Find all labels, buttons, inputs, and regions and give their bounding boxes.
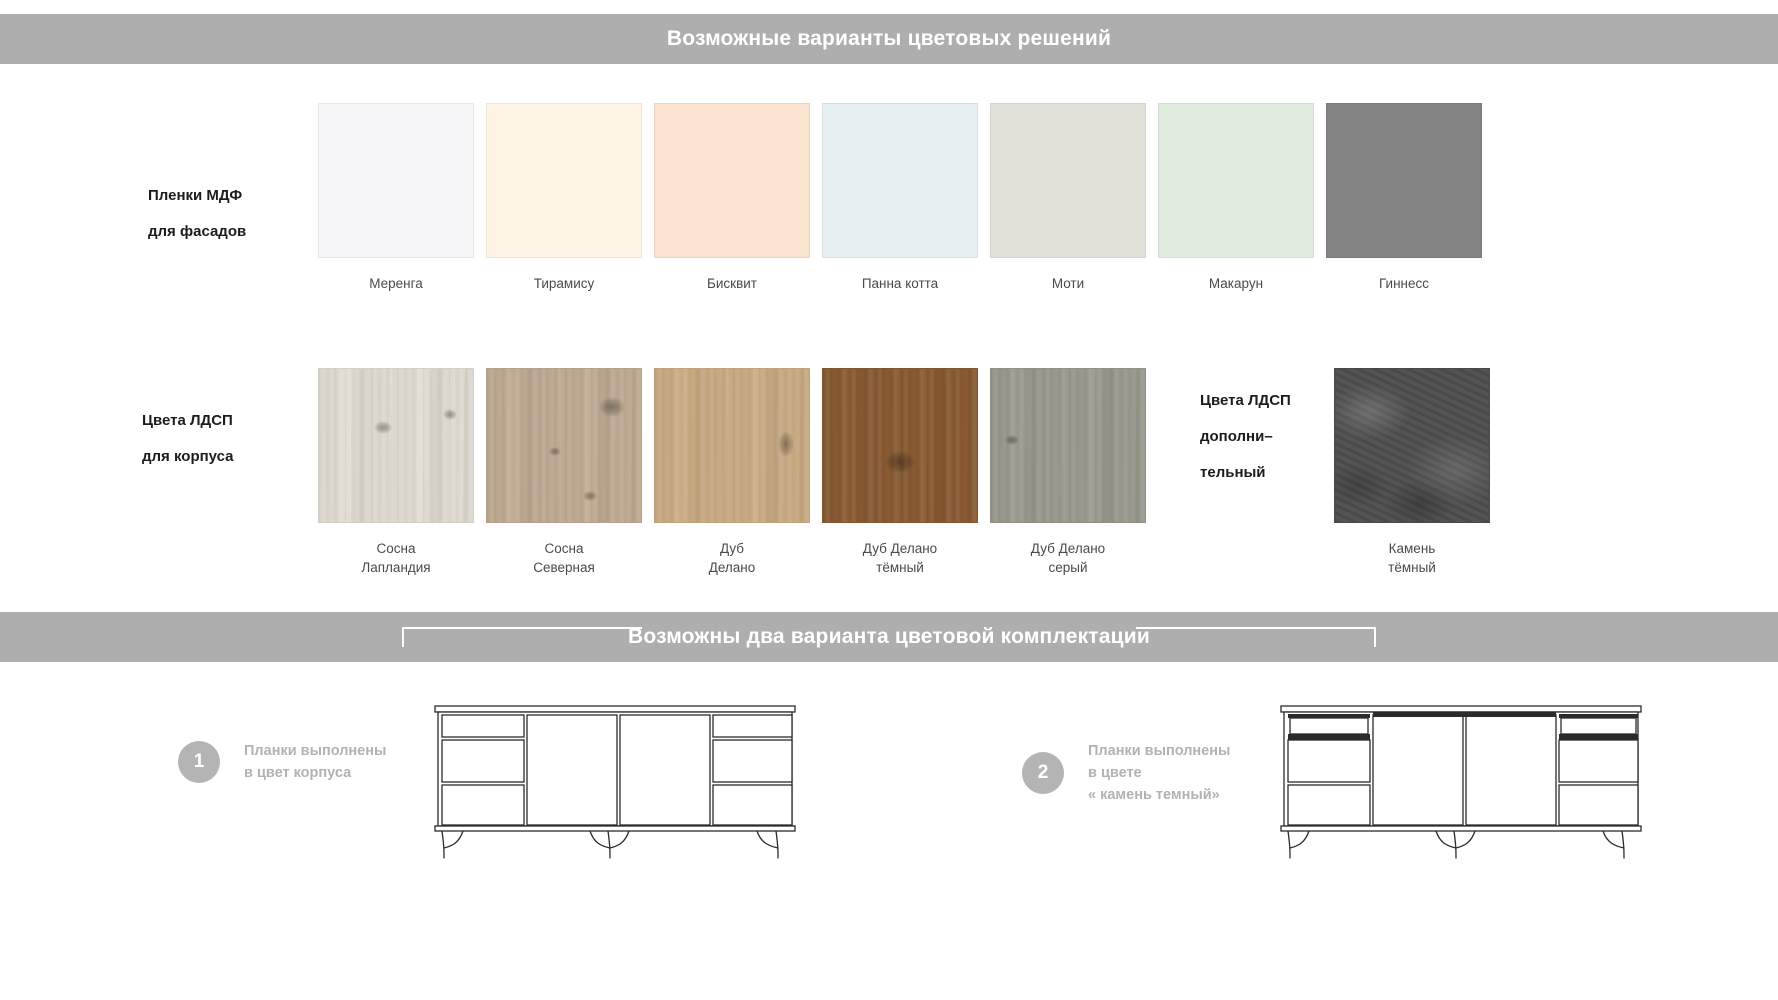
stone-texture-overlay	[1335, 369, 1489, 522]
wood-knot-icon	[583, 491, 597, 501]
sideboard-svg-2	[1278, 700, 1644, 860]
wood-grain-overlay	[823, 369, 977, 522]
top-banner-title: Возможные варианты цветовых решений	[667, 27, 1111, 51]
variant-2-description: Планки выполнены в цвете « камень темный…	[1088, 740, 1230, 806]
swatch-chip-biskvit[interactable]	[654, 103, 810, 258]
swatch-label-dub-delano-temnyy: Дуб Делано тёмный	[863, 539, 937, 577]
ldsp-extra-label-line3: тельный	[1200, 455, 1291, 491]
swatch-dub-delano-temnyy[interactable]: Дуб Делано тёмный	[822, 368, 978, 577]
mdf-swatch-row: Меренга Тирамису Бисквит Панна котта Мот…	[318, 103, 1482, 293]
ldsp-label-line2: для корпуса	[142, 439, 234, 475]
variant-1-badge: 1	[178, 741, 220, 783]
ldsp-swatch-row: Сосна Лапландия Сосна Северная Дуб Делан…	[318, 368, 1146, 577]
mdf-section-label: Пленки МДФ для фасадов	[148, 178, 246, 250]
color-options-page: Возможные варианты цветовых решений Плен…	[0, 0, 1778, 1000]
swatch-chip-kamen-temnyy[interactable]	[1334, 368, 1490, 523]
ldsp-extra-label-line2: дополни–	[1200, 419, 1291, 455]
swatch-chip-merenga[interactable]	[318, 103, 474, 258]
top-banner: Возможные варианты цветовых решений	[0, 14, 1778, 64]
wood-grain-overlay	[319, 369, 473, 522]
swatch-tiramisu[interactable]: Тирамису	[486, 103, 642, 293]
swatch-sosna-laplandiya[interactable]: Сосна Лапландия	[318, 368, 474, 577]
bracket-tick	[402, 627, 404, 647]
banner-bracket-left	[402, 627, 642, 647]
swatch-chip-sosna-severnaya[interactable]	[486, 368, 642, 523]
swatch-chip-dub-delano-seryy[interactable]	[990, 368, 1146, 523]
wood-grain-overlay	[487, 369, 641, 522]
ldsp-label-line1: Цвета ЛДСП	[142, 403, 234, 439]
mdf-label-line2: для фасадов	[148, 214, 246, 250]
swatch-dub-delano[interactable]: Дуб Делано	[654, 368, 810, 577]
swatch-label-merenga: Меренга	[369, 274, 423, 293]
bracket-line	[1136, 627, 1376, 629]
swatch-chip-makarun[interactable]	[1158, 103, 1314, 258]
wood-knot-icon	[549, 447, 561, 456]
swatch-kamen-temnyy[interactable]: Камень тёмный	[1334, 368, 1490, 577]
ldsp-section-label: Цвета ЛДСП для корпуса	[142, 403, 234, 475]
swatch-sosna-severnaya[interactable]: Сосна Северная	[486, 368, 642, 577]
variant-2[interactable]: 2 Планки выполнены в цвете « камень темн…	[1022, 740, 1230, 806]
swatch-biskvit[interactable]: Бисквит	[654, 103, 810, 293]
variant-1-description: Планки выполнены в цвет корпуса	[244, 740, 386, 784]
banner-bracket-right	[1136, 627, 1376, 647]
wood-knot-icon	[443, 409, 457, 420]
swatch-label-sosna-severnaya: Сосна Северная	[533, 539, 595, 577]
sideboard-drawing-variant-2	[1278, 700, 1644, 865]
swatch-merenga[interactable]: Меренга	[318, 103, 474, 293]
swatch-label-dub-delano-seryy: Дуб Делано серый	[1031, 539, 1105, 577]
sideboard-svg-1	[432, 700, 798, 860]
swatch-panna-kotta[interactable]: Панна котта	[822, 103, 978, 293]
ldsp-extra-label-line1: Цвета ЛДСП	[1200, 383, 1291, 419]
swatch-label-makarun: Макарун	[1209, 274, 1263, 293]
wood-grain-overlay	[991, 369, 1145, 522]
variant-1[interactable]: 1 Планки выполнены в цвет корпуса	[178, 740, 386, 784]
swatch-moti[interactable]: Моти	[990, 103, 1146, 293]
swatch-label-biskvit: Бисквит	[707, 274, 757, 293]
bracket-line	[402, 627, 642, 629]
mid-banner-title: Возможны два варианта цветовой комплекта…	[628, 625, 1150, 649]
wood-knot-icon	[778, 431, 794, 457]
wood-knot-icon	[599, 397, 625, 417]
swatch-chip-sosna-laplandiya[interactable]	[318, 368, 474, 523]
swatch-label-sosna-laplandiya: Сосна Лапландия	[361, 539, 430, 577]
swatch-chip-dub-delano-temnyy[interactable]	[822, 368, 978, 523]
ldsp-extra-label: Цвета ЛДСП дополни– тельный	[1200, 383, 1291, 491]
swatch-label-dub-delano: Дуб Делано	[709, 539, 756, 577]
mid-banner: Возможны два варианта цветовой комплекта…	[0, 612, 1778, 662]
wood-knot-icon	[374, 421, 392, 434]
swatch-chip-tiramisu[interactable]	[486, 103, 642, 258]
swatch-label-kamen-temnyy: Камень тёмный	[1388, 539, 1436, 577]
swatch-chip-ginness[interactable]	[1326, 103, 1482, 258]
wood-knot-icon	[885, 451, 915, 473]
swatch-ginness[interactable]: Гиннесс	[1326, 103, 1482, 293]
swatch-makarun[interactable]: Макарун	[1158, 103, 1314, 293]
swatch-label-panna-kotta: Панна котта	[862, 274, 938, 293]
swatch-chip-dub-delano[interactable]	[654, 368, 810, 523]
wood-knot-icon	[1005, 435, 1019, 445]
swatch-label-moti: Моти	[1052, 274, 1084, 293]
swatch-label-tiramisu: Тирамису	[534, 274, 595, 293]
swatch-label-ginness: Гиннесс	[1379, 274, 1429, 293]
swatch-chip-moti[interactable]	[990, 103, 1146, 258]
sideboard-drawing-variant-1	[432, 700, 798, 865]
variant-2-badge: 2	[1022, 752, 1064, 794]
bracket-tick	[1374, 627, 1376, 647]
mdf-label-line1: Пленки МДФ	[148, 178, 246, 214]
swatch-dub-delano-seryy[interactable]: Дуб Делано серый	[990, 368, 1146, 577]
swatch-chip-panna-kotta[interactable]	[822, 103, 978, 258]
